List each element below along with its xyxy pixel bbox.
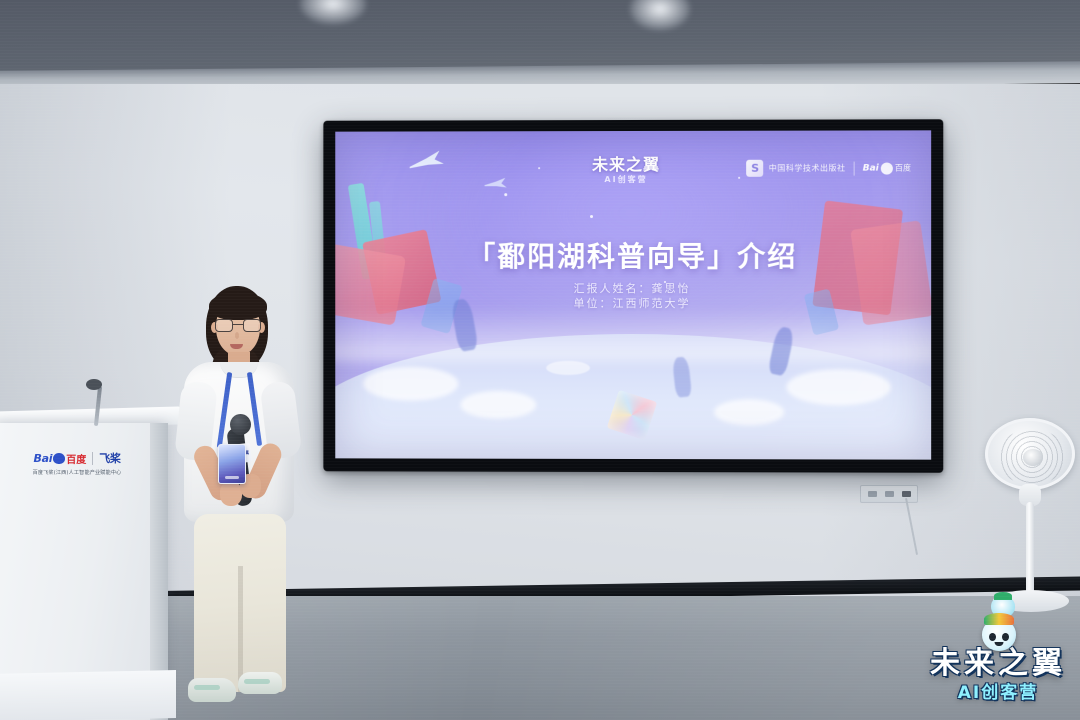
podium-logo: Bai 百度 飞桨 百度飞桨(江西)人工智能产业赋能中心 [8, 450, 146, 476]
podium-logo-caption: 百度飞桨(江西)人工智能产业赋能中心 [9, 469, 144, 476]
mascot-eye-right [1002, 633, 1009, 641]
pedestal-fan [985, 418, 1080, 618]
mascot-mouth [995, 642, 1004, 646]
baidu-latin: Bai [863, 163, 879, 173]
podium-baidu-paw-icon [53, 453, 65, 464]
presentation-screen[interactable]: 未来之翼 AI创客营 S 中国科学技术出版社 Bai 百度 「鄱阳湖科普向导」介… [323, 119, 943, 473]
illustration-horizon [335, 308, 931, 361]
badge-strip [225, 476, 239, 479]
baidu-logo: Bai 百度 [863, 162, 911, 174]
nose [235, 332, 239, 339]
publisher-logo: S 中国科学技术出版社 [747, 160, 846, 177]
logo-divider [854, 161, 855, 175]
slide-partner-logos: S 中国科学技术出版社 Bai 百度 [747, 159, 911, 176]
podium-base [0, 670, 176, 720]
hair-fringe [209, 292, 267, 320]
watermark-mascot-icon [982, 619, 1016, 651]
slide-title: 「鄱阳湖科普向导」介绍 [335, 235, 931, 275]
fan-head [985, 418, 1075, 490]
star-dot [504, 193, 507, 196]
microphone-head-icon [230, 414, 251, 435]
star-dot [538, 167, 540, 169]
podium-logo-row: Bai 百度 飞桨 [8, 450, 146, 466]
slide-brand-logo: 未来之翼 AI创客营 [592, 157, 660, 184]
presenter: 未来之翼 [176, 286, 304, 720]
cloud-shape [460, 391, 536, 419]
slide-subtitle: 汇报人姓名：龚思怡 单位：江西师范大学 [335, 281, 931, 311]
cloud-shape [546, 361, 590, 375]
star-dot [738, 177, 740, 179]
podium-baidu-cn: 百度 [66, 451, 86, 466]
publisher-name: 中国科学技术出版社 [769, 163, 846, 174]
podium-baidu-logo: Bai 百度 [34, 451, 87, 466]
podium-paddle-logo: 飞桨 [99, 450, 120, 466]
fan-pole [1026, 502, 1034, 596]
glasses-lens-left [215, 319, 233, 332]
publisher-mark-icon: S [747, 160, 764, 177]
baidu-cn: 百度 [895, 162, 911, 173]
podium-mic-head-icon [86, 379, 102, 390]
watermark-line1: 未来之翼 [930, 649, 1066, 679]
photo-scene: 未来之翼 AI创客营 S 中国科学技术出版社 Bai 百度 「鄱阳湖科普向导」介… [0, 0, 1080, 720]
slide-presenter-line: 汇报人姓名：龚思怡 [335, 281, 931, 296]
glasses-lens-right [243, 319, 261, 332]
podium-baidu-latin: Bai [34, 452, 53, 465]
mascot-eye-left [989, 633, 996, 641]
slide-affiliation-line: 单位：江西师范大学 [335, 296, 931, 311]
cloud-shape [714, 399, 784, 425]
star-dot [590, 215, 593, 218]
shoe-right [238, 672, 282, 694]
brand-logo-line1: 未来之翼 [592, 157, 660, 173]
mascot-hat [984, 613, 1014, 625]
podium-logo-divider [92, 452, 93, 465]
glasses-icon [215, 319, 261, 332]
glasses-bridge [233, 324, 243, 325]
shoe-left [188, 678, 236, 702]
watermark: 未来之翼 AI创客营 [930, 649, 1066, 702]
power-outlet [860, 485, 918, 503]
screen-panel: 未来之翼 AI创客营 S 中国科学技术出版社 Bai 百度 「鄱阳湖科普向导」介… [335, 130, 931, 459]
conference-badge [218, 444, 246, 484]
watermark-line2: AI创客营 [930, 685, 1066, 702]
brand-logo-line2: AI创客营 [592, 176, 660, 184]
hand-left [220, 482, 242, 506]
cloud-shape [363, 367, 458, 401]
fan-hub [1023, 449, 1043, 466]
cloud-shape [786, 369, 891, 405]
baidu-paw-icon [881, 162, 893, 174]
